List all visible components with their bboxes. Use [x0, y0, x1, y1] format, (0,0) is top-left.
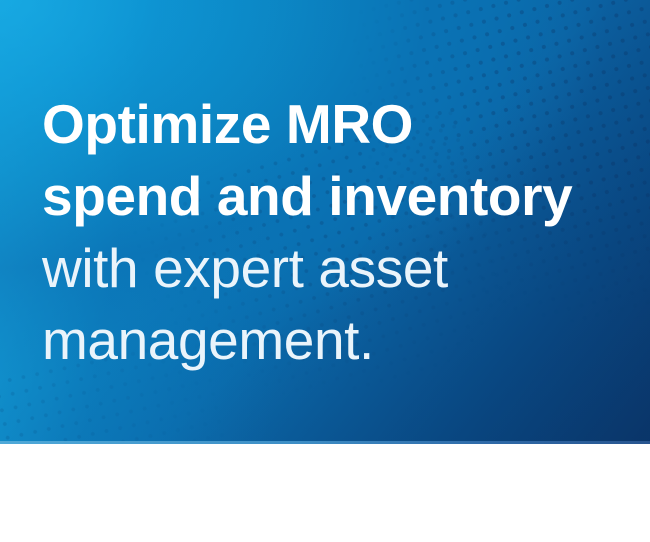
footer-bar: RA Rockwell Automation [0, 444, 650, 542]
headline-line-4: management. [42, 304, 617, 376]
headline-line-1: Optimize MRO [42, 88, 617, 160]
hero-panel: Optimize MRO spend and inventory with ex… [0, 0, 650, 443]
ad-banner[interactable]: Optimize MRO spend and inventory with ex… [0, 0, 650, 542]
headline: Optimize MRO spend and inventory with ex… [42, 88, 617, 376]
headline-line-3: with expert asset [42, 232, 617, 304]
headline-line-2: spend and inventory [42, 160, 617, 232]
